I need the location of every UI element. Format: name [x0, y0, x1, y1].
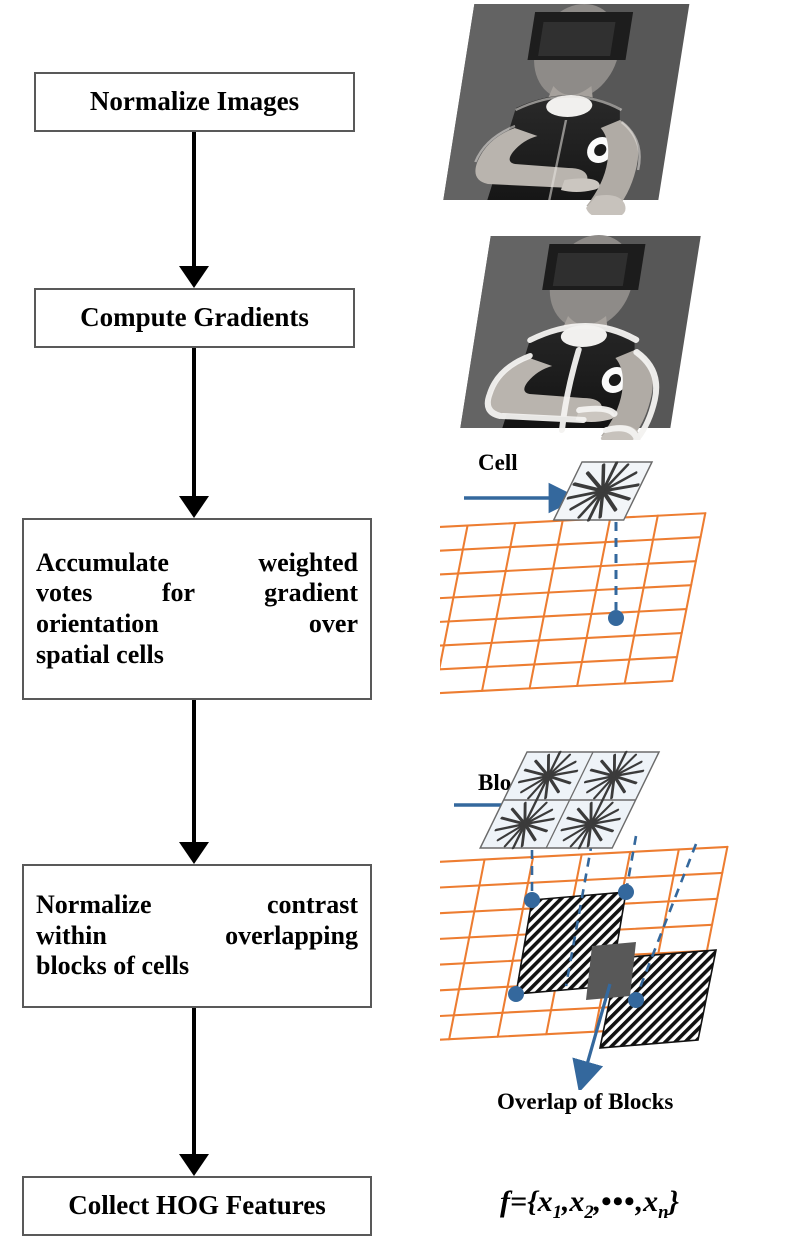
arrow-shaft [192, 132, 196, 266]
flow-step-line: orientation over [36, 609, 358, 640]
arrow-head-icon [179, 266, 209, 288]
flow-step-normalize-images[interactable]: Normalize Images [34, 72, 355, 132]
flow-step-normalize-contrast[interactable]: Normalize contrast within overlapping bl… [22, 864, 372, 1008]
flow-step-compute-gradients[interactable]: Compute Gradients [34, 288, 355, 348]
cell-leader-line [608, 522, 624, 626]
figure-canvas: Normalize Images Compute Gradients Accum… [0, 0, 800, 1244]
formula-term-2: x [569, 1185, 584, 1218]
formula-sub-1: 1 [553, 1202, 562, 1223]
formula-sub-2: 2 [584, 1202, 593, 1223]
flow-step-line: within overlapping [36, 921, 358, 952]
overlap-patch [586, 942, 636, 1000]
arrow-head-icon [179, 496, 209, 518]
normalized-input-image [430, 0, 800, 215]
flow-step-accumulate-votes[interactable]: Accumulate weighted votes for gradient o… [22, 518, 372, 700]
formula-equals: = [510, 1185, 527, 1218]
formula-lhs: f [500, 1185, 510, 1218]
connector-arrow-3 [179, 700, 209, 864]
cell-leader-dot [608, 610, 624, 626]
cell-illustration [440, 440, 800, 730]
block-illustration [440, 750, 800, 1090]
connector-arrow-4 [179, 1008, 209, 1176]
arrow-head-icon [179, 1154, 209, 1176]
flow-step-line: Normalize contrast [36, 890, 358, 921]
flow-step-collect-hog-features[interactable]: Collect HOG Features [22, 1176, 372, 1236]
cell-grid [440, 513, 705, 696]
connector-arrow-1 [179, 132, 209, 288]
flow-step-label: Collect HOG Features [24, 1190, 370, 1222]
arrow-shaft [192, 700, 196, 842]
block-orientation-histograms [480, 752, 659, 848]
formula-open-brace: { [527, 1185, 537, 1218]
formula-ellipsis: ••• [601, 1185, 636, 1218]
formula-term-3: x [643, 1185, 658, 1218]
flow-step-line: blocks of cells [36, 951, 358, 982]
arrow-shaft [192, 348, 196, 496]
hog-feature-vector-formula: f={x1,x2,•••,xn} [500, 1185, 679, 1224]
cell-orientation-histogram [554, 462, 652, 520]
flow-step-line: Accumulate weighted [36, 548, 358, 579]
formula-close-brace: } [669, 1185, 679, 1218]
flow-step-line: spatial cells [36, 640, 358, 671]
gradient-magnitude-image [440, 228, 800, 440]
flow-step-label: Compute Gradients [36, 302, 353, 334]
formula-term-1: x [538, 1185, 553, 1218]
formula-sub-3: n [658, 1202, 668, 1223]
flow-step-label: Normalize Images [36, 86, 353, 118]
connector-arrow-2 [179, 348, 209, 518]
overlap-of-blocks-label: Overlap of Blocks [497, 1089, 673, 1115]
flow-step-line: votes for gradient [36, 578, 358, 609]
arrow-head-icon [179, 842, 209, 864]
arrow-shaft [192, 1008, 196, 1154]
